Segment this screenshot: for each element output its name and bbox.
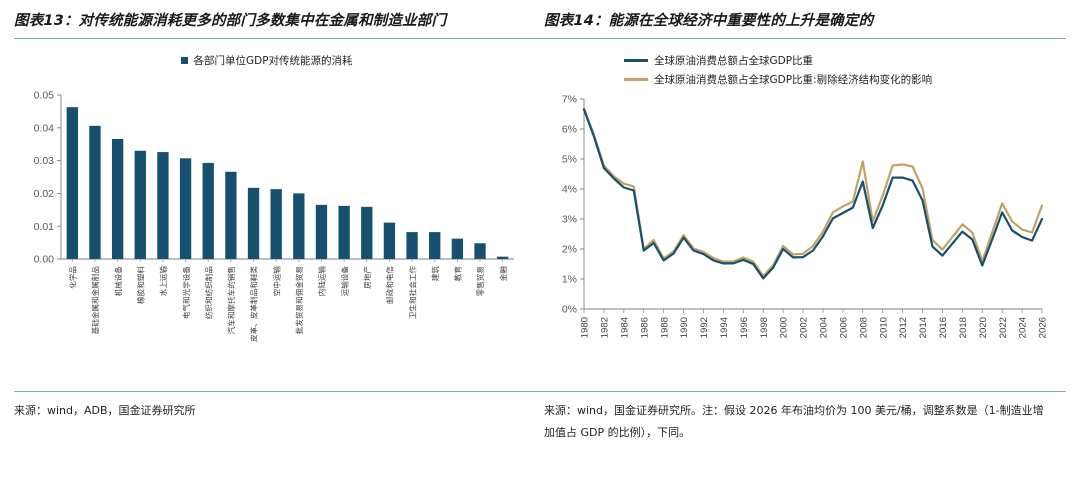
- x-axis-category-label: 电气和光学设备: [181, 266, 191, 320]
- x-axis-year-label: 2024: [1018, 317, 1029, 339]
- legend-label-series2: 全球原油消费总额占全球GDP比重:剔除经济结构变化的影响: [654, 72, 932, 87]
- bar: [180, 159, 191, 260]
- figure14-chart: 0%1%2%3%4%5%6%7%198019821984198619881990…: [544, 91, 1050, 391]
- legend-square-icon: [181, 57, 188, 64]
- x-axis-year-label: 2006: [838, 317, 849, 338]
- x-axis-category-label: 房地产: [362, 266, 372, 289]
- y-axis-tick: 3%: [562, 214, 577, 226]
- y-axis-tick: 4%: [562, 184, 577, 196]
- figures-page: 图表13：对传统能源消耗更多的部门多数集中在金属和制造业部门 图表14：能源在全…: [0, 0, 1080, 477]
- bar: [89, 126, 100, 259]
- x-axis-year-label: 2018: [958, 317, 969, 338]
- x-axis-category-label: 教育: [453, 266, 463, 282]
- figure13-source-col: 来源：wind，ADB，国金证券研究所: [14, 400, 520, 443]
- y-axis-tick: 5%: [562, 154, 577, 166]
- x-axis-year-label: 2000: [779, 317, 790, 338]
- x-axis-category-label: 汽车和摩托车的销售: [226, 266, 236, 334]
- y-axis-tick: 0.02: [34, 188, 55, 200]
- bar: [406, 233, 417, 260]
- bar: [112, 139, 123, 259]
- x-axis-category-label: 运输设备: [339, 266, 349, 297]
- y-axis-tick: 0.03: [34, 156, 55, 168]
- x-axis-category-label: 邮政和电信: [385, 266, 395, 304]
- x-axis-year-label: 1986: [639, 317, 650, 338]
- figure13-panel: 各部门单位GDP对传统能源的消耗 0.000.010.020.030.040.0…: [14, 39, 520, 391]
- bar: [271, 190, 282, 260]
- bar: [203, 163, 214, 259]
- charts-row: 各部门单位GDP对传统能源的消耗 0.000.010.020.030.040.0…: [0, 39, 1080, 391]
- y-axis-tick: 7%: [562, 94, 577, 106]
- x-axis-year-label: 1988: [659, 317, 670, 338]
- x-axis-year-label: 1996: [739, 317, 750, 338]
- line-chart-svg: 0%1%2%3%4%5%6%7%198019821984198619881990…: [544, 91, 1050, 391]
- bar: [474, 244, 485, 260]
- x-axis-year-label: 2004: [819, 317, 830, 339]
- figure13-title-col: 图表13：对传统能源消耗更多的部门多数集中在金属和制造业部门: [14, 10, 520, 32]
- x-axis-year-label: 2020: [978, 317, 989, 338]
- sources-row: 来源：wind，ADB，国金证券研究所 来源：wind，国金证券研究所。注：假设…: [0, 392, 1080, 443]
- legend-item-series1: 全球原油消费总额占全球GDP比重: [624, 53, 813, 68]
- legend-item-series2: 全球原油消费总额占全球GDP比重:剔除经济结构变化的影响: [624, 72, 932, 87]
- bar: [248, 188, 259, 259]
- x-axis-category-label: 皮革、皮革制品和鞋类: [249, 266, 259, 342]
- y-axis-tick: 2%: [562, 244, 577, 256]
- bar: [316, 205, 327, 259]
- x-axis-year-label: 2014: [918, 317, 929, 339]
- figure14-title-col: 图表14：能源在全球经济中重要性的上升是确定的: [544, 10, 1050, 32]
- figure13-source: 来源：wind，ADB，国金证券研究所: [14, 400, 520, 421]
- x-axis-category-label: 零售贸易: [475, 266, 485, 296]
- x-axis-category-label: 建筑: [430, 266, 440, 282]
- bar: [361, 207, 372, 259]
- legend-label-bar: 各部门单位GDP对传统能源的消耗: [193, 53, 352, 68]
- x-axis-category-label: 机械设备: [113, 266, 123, 297]
- y-axis-tick: 0.01: [34, 221, 55, 233]
- x-axis-year-label: 1982: [600, 317, 611, 338]
- x-axis-year-label: 2008: [858, 317, 869, 338]
- x-axis-year-label: 2016: [938, 317, 949, 338]
- x-axis-year-label: 2012: [898, 317, 909, 338]
- bar: [293, 194, 304, 260]
- x-axis-category-label: 批发贸易和佣金贸易: [294, 266, 304, 334]
- figure13-chart: 0.000.010.020.030.040.05化学品基础金属和金属制品机械设备…: [14, 87, 520, 387]
- bar: [384, 223, 395, 259]
- x-axis-year-label: 1992: [699, 317, 710, 338]
- bar: [157, 153, 168, 260]
- x-axis-category-label: 基础金属和金属制品: [90, 266, 100, 335]
- x-axis-category-label: 卫生和社会工作: [407, 266, 417, 320]
- bar: [452, 239, 463, 259]
- figure14-panel: 全球原油消费总额占全球GDP比重 全球原油消费总额占全球GDP比重:剔除经济结构…: [544, 39, 1050, 391]
- line-series: [584, 110, 1042, 279]
- titles-row: 图表13：对传统能源消耗更多的部门多数集中在金属和制造业部门 图表14：能源在全…: [0, 0, 1080, 32]
- x-axis-year-label: 2010: [878, 317, 889, 338]
- legend-label-series1: 全球原油消费总额占全球GDP比重: [654, 53, 813, 68]
- legend-line-icon-series1: [624, 59, 648, 62]
- bar: [338, 206, 349, 259]
- x-axis-year-label: 2026: [1038, 317, 1049, 338]
- figure14-source-col: 来源：wind，国金证券研究所。注：假设 2026 年布油均价为 100 美元/…: [544, 400, 1050, 443]
- legend-item-bar: 各部门单位GDP对传统能源的消耗: [181, 53, 352, 68]
- bar: [135, 151, 146, 259]
- x-axis-year-label: 1984: [619, 317, 630, 339]
- y-axis-tick: 0.00: [34, 254, 55, 266]
- y-axis-tick: 0%: [562, 304, 577, 316]
- bar: [67, 108, 78, 260]
- y-axis-tick: 1%: [562, 274, 577, 286]
- x-axis-year-label: 2002: [799, 317, 810, 338]
- x-axis-category-label: 水上运输: [158, 266, 168, 297]
- figure14-title: 图表14：能源在全球经济中重要性的上升是确定的: [544, 10, 1050, 32]
- bar: [225, 172, 236, 259]
- bar: [497, 257, 508, 259]
- y-axis-tick: 6%: [562, 124, 577, 136]
- bar-chart-svg: 0.000.010.020.030.040.05化学品基础金属和金属制品机械设备…: [14, 87, 520, 387]
- bar: [429, 233, 440, 260]
- figure13-title: 图表13：对传统能源消耗更多的部门多数集中在金属和制造业部门: [14, 10, 520, 32]
- x-axis-category-label: 内陆运输: [317, 266, 327, 297]
- x-axis-year-label: 2022: [998, 317, 1009, 338]
- figure13-legend: 各部门单位GDP对传统能源的消耗: [14, 53, 520, 87]
- y-axis-tick: 0.04: [34, 123, 55, 135]
- legend-line-icon-series2: [624, 78, 648, 81]
- y-axis-tick: 0.05: [34, 90, 55, 102]
- x-axis-category-label: 金融: [498, 266, 508, 282]
- x-axis-year-label: 1980: [580, 317, 591, 338]
- x-axis-year-label: 1998: [759, 317, 770, 338]
- figure14-legend: 全球原油消费总额占全球GDP比重 全球原油消费总额占全球GDP比重:剔除经济结构…: [544, 53, 1050, 91]
- x-axis-year-label: 1990: [679, 317, 690, 338]
- x-axis-year-label: 1994: [719, 317, 730, 339]
- x-axis-category-label: 橡胶和塑料: [135, 266, 145, 304]
- figure14-source: 来源：wind，国金证券研究所。注：假设 2026 年布油均价为 100 美元/…: [544, 400, 1050, 443]
- x-axis-category-label: 纺织和纺织制品: [203, 266, 213, 320]
- x-axis-category-label: 化学品: [68, 266, 78, 289]
- x-axis-category-label: 空中运输: [271, 266, 281, 297]
